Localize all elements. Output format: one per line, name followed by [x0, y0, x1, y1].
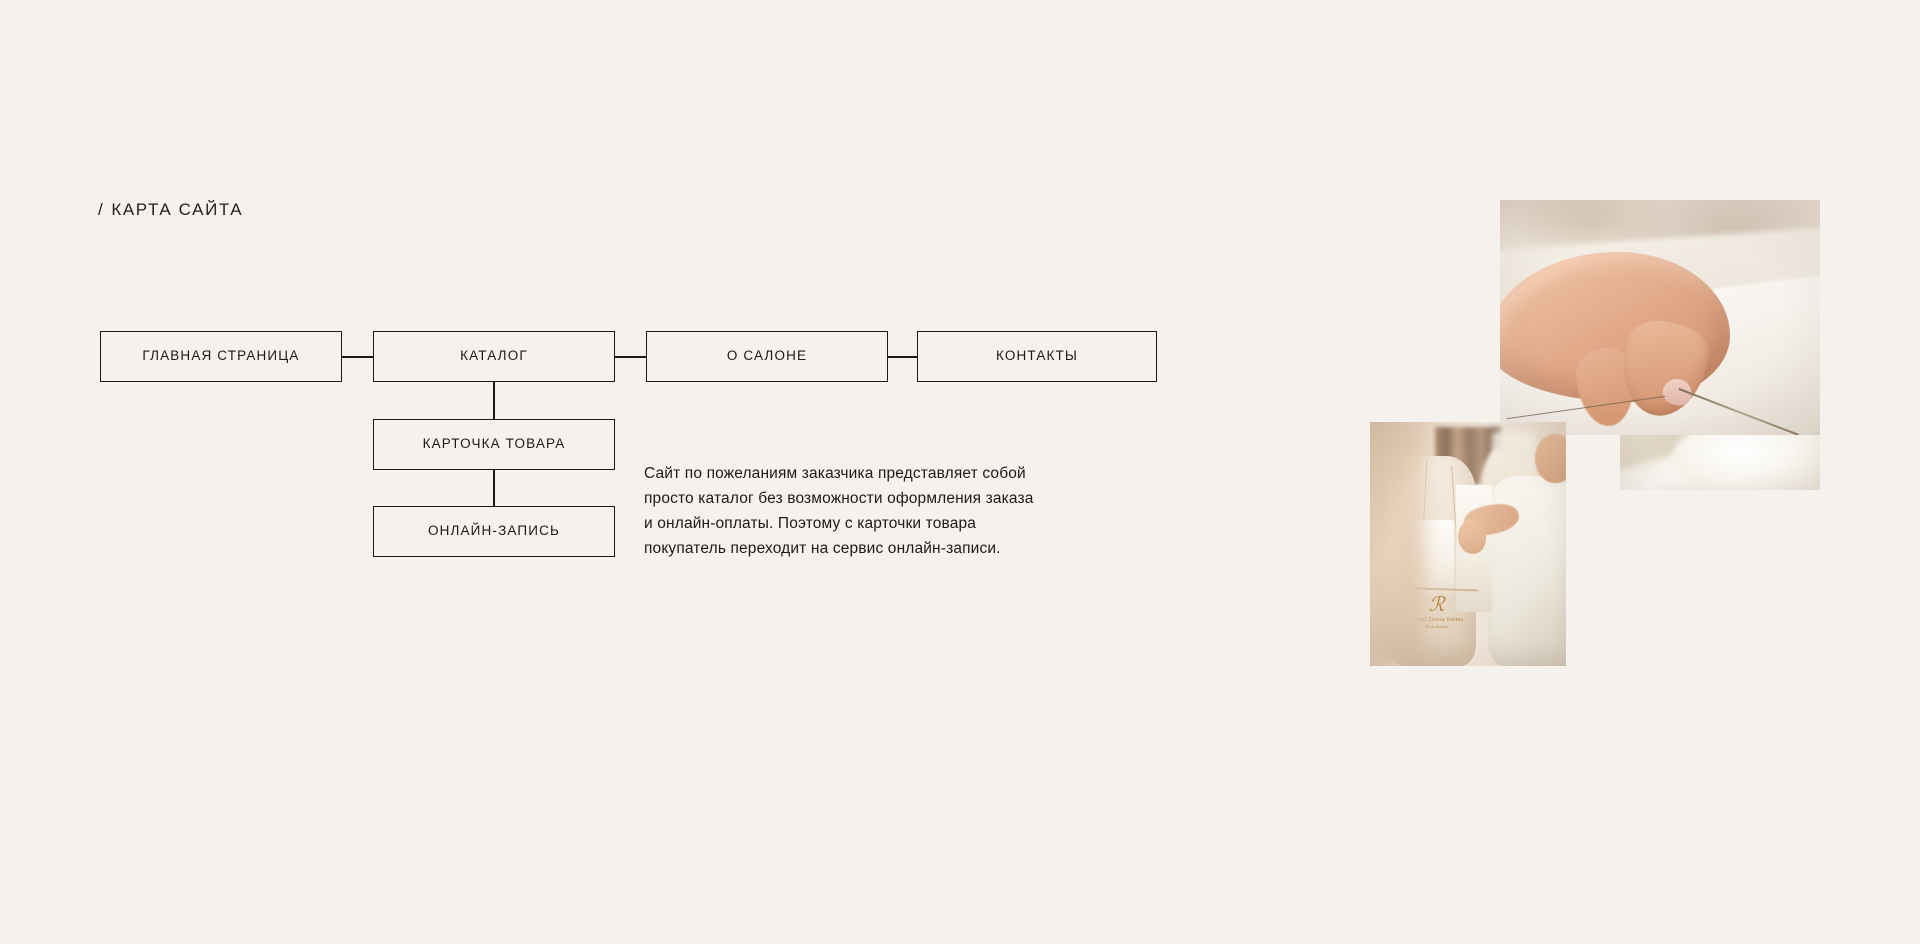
foreground-blur-veil [1370, 422, 1425, 666]
sitemap-node-about[interactable]: О САЛОНЕ [646, 331, 888, 382]
description-line-3: и онлайн-оплаты. Поэтому с карточки това… [644, 511, 1124, 536]
page-canvas: /КАРТА САЙТА ГЛАВНАЯ СТРАНИЦА КАТАЛОГ О … [0, 0, 1920, 944]
photo-dress-fitting: ℛ Royal Dress forms Body design [1370, 422, 1566, 666]
sitemap-node-catalog-label: КАТАЛОГ [460, 348, 528, 364]
connector-catalog-to-about [615, 356, 646, 358]
connector-home-to-catalog [342, 356, 373, 358]
sitemap-node-contacts[interactable]: КОНТАКТЫ [917, 331, 1157, 382]
photo-sewing-hand [1500, 200, 1820, 435]
seamstress-hand [1458, 520, 1485, 554]
sewing-backdrop [1500, 200, 1820, 435]
sitemap-node-product-card[interactable]: КАРТОЧКА ТОВАРА [373, 419, 615, 470]
photo-collage: ℛ Royal Dress forms Body design [1370, 190, 1880, 760]
description-line-2: просто каталог без возможности оформлени… [644, 486, 1124, 511]
sitemap-description: Сайт по пожеланиям заказчика представляе… [644, 461, 1124, 561]
sitemap-node-about-label: О САЛОНЕ [727, 348, 807, 364]
description-line-1: Сайт по пожеланиям заказчика представляе… [644, 461, 1124, 486]
connector-card-to-booking [493, 470, 495, 506]
sitemap-node-contacts-label: КОНТАКТЫ [996, 348, 1078, 364]
sitemap-node-online-booking[interactable]: ОНЛАЙН-ЗАПИСЬ [373, 506, 615, 557]
connector-about-to-contacts [888, 356, 917, 358]
sitemap-node-home[interactable]: ГЛАВНАЯ СТРАНИЦА [100, 331, 342, 382]
sitemap-node-catalog[interactable]: КАТАЛОГ [373, 331, 615, 382]
sitemap-node-home-label: ГЛАВНАЯ СТРАНИЦА [142, 348, 299, 364]
atelier-backdrop: ℛ Royal Dress forms Body design [1370, 422, 1566, 666]
sitemap-node-online-booking-label: ОНЛАЙН-ЗАПИСЬ [428, 523, 560, 539]
description-line-4: покупатель переходит на сервис онлайн-за… [644, 536, 1124, 561]
sitemap-node-product-card-label: КАРТОЧКА ТОВАРА [423, 436, 566, 452]
connector-catalog-to-card [493, 382, 495, 419]
